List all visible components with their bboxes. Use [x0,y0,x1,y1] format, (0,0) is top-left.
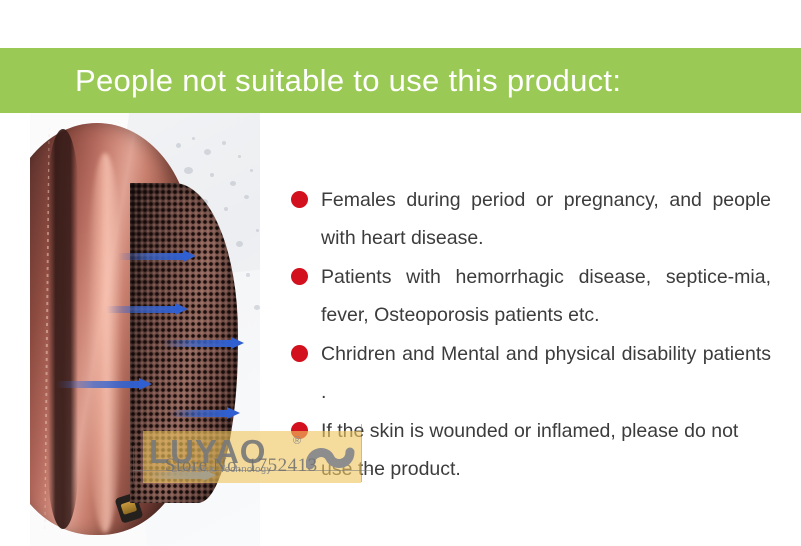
bullet-dot-icon [291,191,308,208]
bullet-dot-icon [291,268,308,285]
pillow-highlight [88,153,122,533]
watermark-divider-right [361,424,362,482]
airflow-arrow-icon [56,378,152,391]
airflow-arrow-icon [162,337,244,350]
list-item: Patients with hemorrhagic disease, septi… [291,258,771,334]
contraindication-list: Females during period or pregnancy, and … [291,181,771,489]
watermark-divider-left [133,446,134,482]
product-info-banner: People not suitable to use this product: [0,0,801,546]
page-title: People not suitable to use this product: [75,63,621,99]
pillow-seam [48,129,78,529]
airflow-arrow-icon [106,303,188,316]
header-band: People not suitable to use this product: [0,48,801,113]
airflow-arrow-icon [170,407,240,420]
list-item-text: If the skin is wounded or inflamed, plea… [321,412,771,488]
list-item: If the skin is wounded or inflamed, plea… [291,412,771,488]
list-item-text: Chridren and Mental and physical disabil… [321,335,771,411]
list-item: Chridren and Mental and physical disabil… [291,335,771,411]
airflow-arrow-icon [118,250,196,263]
list-item-text: Patients with hemorrhagic disease, septi… [321,258,771,334]
bullet-dot-icon [291,345,308,362]
list-item: Females during period or pregnancy, and … [291,181,771,257]
watermark-store-number: Store No. 1752413 [165,455,318,477]
registered-trademark-icon: ® [293,435,301,447]
list-item-text: Females during period or pregnancy, and … [321,181,771,257]
